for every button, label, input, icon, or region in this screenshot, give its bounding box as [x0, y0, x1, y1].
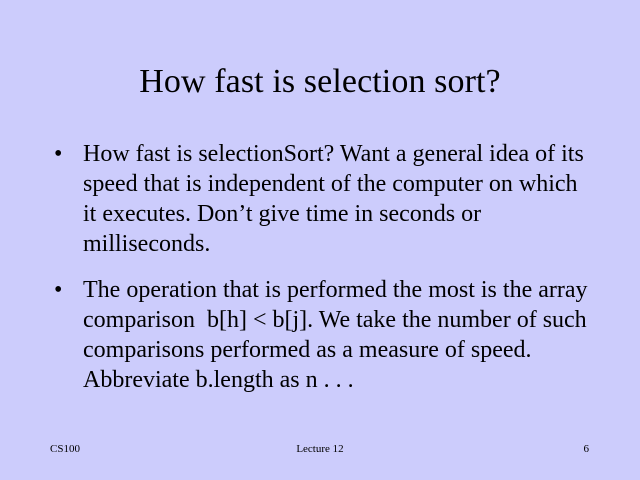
- presentation-slide: How fast is selection sort? • How fast i…: [0, 0, 640, 480]
- bullet-item-text: How fast is selectionSort? Want a genera…: [83, 139, 590, 259]
- bullet-item: • The operation that is performed the mo…: [50, 275, 590, 395]
- slide-footer: CS100 Lecture 12 6: [0, 440, 640, 458]
- bullet-item-text: The operation that is performed the most…: [83, 275, 590, 395]
- footer-page-number: 6: [0, 442, 589, 456]
- page-title: How fast is selection sort?: [0, 60, 640, 104]
- bullet-item: • How fast is selectionSort? Want a gene…: [50, 139, 590, 259]
- slide-body: • How fast is selectionSort? Want a gene…: [50, 139, 590, 395]
- bullet-point-icon: •: [50, 275, 83, 305]
- bullet-point-icon: •: [50, 139, 83, 169]
